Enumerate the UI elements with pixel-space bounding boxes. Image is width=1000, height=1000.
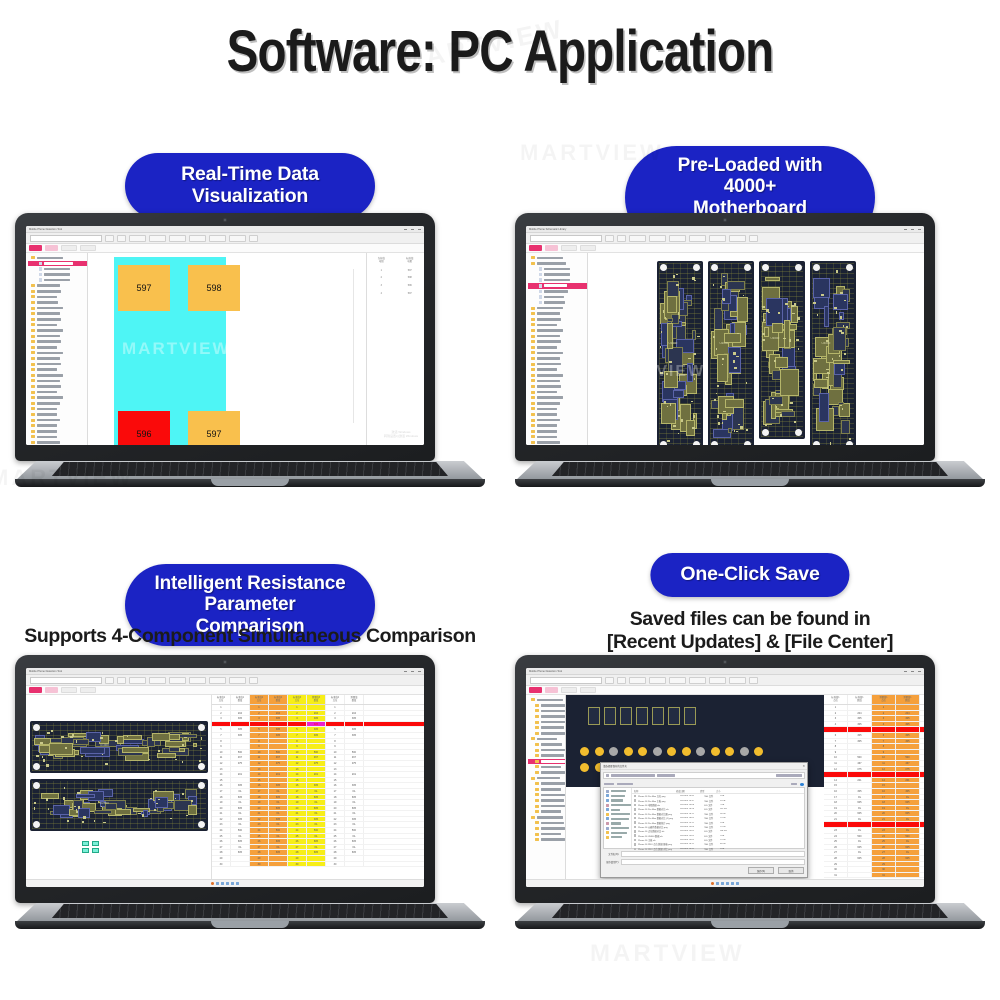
save-file-dialog[interactable]: 请选择要保存的文件夹 ✕ [600, 762, 808, 878]
table-cell: OL [269, 834, 288, 839]
table-cell: 20 [872, 811, 896, 816]
mounting-hole [198, 763, 205, 770]
table-cell: 305 [307, 722, 326, 727]
file-checkbox[interactable] [634, 795, 637, 798]
table-row[interactable]: 4597 [367, 290, 424, 298]
test-pad[interactable] [682, 747, 691, 756]
data-block-4[interactable]: 597 [188, 411, 240, 445]
folder-icon [31, 368, 35, 371]
tree-item-label [37, 335, 61, 338]
table-cell [269, 739, 288, 744]
test-pad[interactable] [624, 747, 633, 756]
table-cell: OL [848, 795, 872, 800]
file-cell: 2025/4/8 16:20 [680, 808, 704, 810]
table-cell: 467 [269, 755, 288, 760]
file-checkbox[interactable] [634, 808, 637, 811]
table-cell: 24 [872, 834, 896, 839]
status-icon[interactable] [231, 882, 234, 885]
table-cell: 2 [326, 711, 345, 716]
pcb-board[interactable]: U2000 [708, 261, 754, 445]
file-cell: PNG 文件 [704, 799, 720, 803]
table-cell: 24 [288, 828, 307, 833]
laptop-screen-4: Mobile Phone Detection Tool [526, 668, 924, 887]
mounting-hole [33, 724, 40, 731]
table-row[interactable]: 3596 [367, 282, 424, 290]
pcb-board[interactable]: U2800 [30, 779, 208, 831]
toolbar-button-reset[interactable] [617, 677, 626, 684]
window-controls[interactable] [404, 229, 421, 230]
table-cell: 31 [872, 873, 896, 878]
status-icon[interactable] [726, 882, 729, 885]
pcb-pad [840, 292, 843, 294]
file-checkbox[interactable] [634, 813, 637, 816]
pcb-pad [762, 339, 765, 341]
tab-data-compare[interactable] [29, 245, 42, 251]
file-checkbox[interactable] [634, 834, 637, 837]
folder-icon [535, 805, 539, 808]
pcb-component [169, 747, 179, 751]
table-cell: 305 [269, 783, 288, 788]
quadrant-intelligent-resistance-comparison: Intelligent Resistance Parameter Compari… [0, 540, 500, 990]
status-icon[interactable] [221, 882, 224, 885]
toolbar-button-auto-detect[interactable] [189, 677, 206, 684]
status-icon[interactable] [716, 882, 719, 885]
folder-icon [531, 435, 535, 438]
pcb-pad [765, 424, 767, 426]
table-cell: OL [345, 789, 364, 794]
status-icon[interactable] [216, 882, 219, 885]
file-cell: 17 KB [720, 839, 732, 841]
pcb-pad [103, 822, 106, 824]
document-icon [539, 290, 542, 294]
search-input[interactable] [530, 677, 602, 684]
toolbar-button-feedback[interactable] [729, 235, 746, 242]
table-cell: 13 [872, 772, 896, 777]
toolbar-button-download-update[interactable] [649, 235, 666, 242]
pcb-component [193, 743, 197, 747]
dialog-file-list[interactable]: 名称 修改日期 类型 大小 iPhone 16 Pro Max 点位.png20… [632, 788, 804, 848]
filename-input[interactable] [621, 851, 805, 857]
selected-component[interactable] [92, 848, 99, 853]
schematic-board-canvas[interactable]: U1000U2000U3000U4000 MARTVIEW [588, 253, 924, 445]
test-pad[interactable] [580, 747, 589, 756]
file-cell: 67 KB [720, 817, 732, 819]
table-cell: 605 [307, 850, 326, 855]
folder-icon [531, 335, 535, 338]
tree-item[interactable] [28, 440, 87, 445]
view-button[interactable] [791, 783, 797, 786]
toolbar-button-feedback[interactable] [229, 677, 246, 684]
mounting-hole [813, 264, 820, 271]
window-controls[interactable] [904, 671, 921, 672]
table-cell: OL [848, 839, 872, 844]
selected-component[interactable] [82, 841, 89, 846]
toolbar-button-point-query[interactable] [169, 677, 186, 684]
tree-item-label [37, 357, 61, 360]
toolbar-button-reset[interactable] [117, 677, 126, 684]
mounting-hole [762, 429, 769, 436]
pcb-component [737, 297, 748, 322]
pcb-board[interactable]: U4000 [810, 261, 856, 445]
toolbar-button-query[interactable] [605, 235, 614, 242]
toolbar-button-auto-detect[interactable] [189, 235, 206, 242]
pcb-pad [150, 798, 152, 800]
table-cell: 14 [326, 772, 345, 777]
file-checkbox[interactable] [634, 817, 637, 820]
pcb-pad [46, 798, 48, 801]
pcb-pad [92, 739, 94, 741]
table-cell [307, 705, 326, 710]
status-icon[interactable] [226, 882, 229, 885]
table-cell [345, 862, 364, 867]
status-icon[interactable] [731, 882, 734, 885]
test-pad[interactable] [580, 763, 589, 772]
toolbar-button-repair-data[interactable] [209, 235, 226, 242]
tab-component-library[interactable] [545, 687, 558, 693]
tree-item-label [537, 340, 562, 343]
toolbar-button-download-update[interactable] [649, 677, 666, 684]
table-cell [307, 767, 326, 772]
pcb-board[interactable]: U3000 [759, 261, 805, 439]
pcb-pad [836, 270, 837, 273]
toolbar-button-point-query[interactable] [169, 235, 186, 242]
table-cell: 22 [824, 822, 848, 827]
tab-components[interactable] [561, 687, 577, 693]
file-checkbox[interactable] [634, 839, 637, 842]
help-icon[interactable] [800, 783, 804, 786]
folder-icon [31, 329, 35, 332]
tab-resistance-data[interactable] [545, 245, 558, 251]
table-row[interactable]: 30303030 [212, 862, 424, 868]
tab-version[interactable] [80, 687, 96, 693]
tree-item-label [37, 368, 58, 371]
folder-icon [606, 794, 609, 797]
table-cell: 23 [872, 828, 896, 833]
toolbar-button-feedback[interactable] [729, 677, 746, 684]
test-pad[interactable] [638, 747, 647, 756]
toolbar-button-repair-data[interactable] [709, 677, 726, 684]
dialog-nav-pane[interactable] [604, 788, 632, 848]
table-cell: 3 [824, 716, 848, 721]
table-row[interactable]: 1597 [367, 266, 424, 274]
test-pad[interactable] [711, 747, 720, 756]
toolbar-button-about[interactable] [749, 235, 758, 242]
folder-icon [31, 290, 35, 293]
toolbar-button-about[interactable] [249, 235, 258, 242]
table-cell: 4 [288, 722, 307, 727]
data-block-2[interactable]: 598 [188, 265, 240, 311]
mounting-hole [693, 264, 700, 271]
toolbar-button-feedback[interactable] [229, 235, 246, 242]
file-cell: iPhone 16 Pro Max 点位.png [638, 794, 680, 798]
data-visualization-canvas[interactable]: 597 598 596 597 [88, 253, 366, 445]
toolbar-button-point-query[interactable] [669, 235, 686, 242]
pcb-pad [762, 306, 765, 308]
table-cell: 15 [872, 783, 896, 788]
pcb-board[interactable]: U1000 [30, 721, 208, 773]
pcb-pad [821, 294, 823, 297]
toolbar-button-custom[interactable] [629, 677, 646, 684]
pcb-pad [841, 332, 844, 335]
folder-icon [531, 441, 535, 444]
tree-item-label [541, 760, 566, 763]
toolbar-button-repair-data[interactable] [709, 235, 726, 242]
table-cell: 20 [250, 806, 269, 811]
toolbar-button-repair-data[interactable] [209, 677, 226, 684]
table-cell: 22 [872, 822, 896, 827]
nav-item-label [611, 818, 629, 820]
nav-item-label [611, 832, 627, 834]
toolbar-button-query[interactable] [105, 235, 114, 242]
pcb-pad [673, 425, 676, 427]
table-cell: 204 [307, 711, 326, 716]
table-cell: OL [896, 839, 920, 844]
file-checkbox[interactable] [634, 804, 637, 807]
folder-icon [531, 374, 535, 377]
folder-icon [531, 737, 535, 740]
tab-data-compare[interactable] [29, 687, 42, 693]
model-tree-sidebar[interactable] [526, 695, 566, 887]
table-cell: OL [848, 806, 872, 811]
table-cell: OL [269, 845, 288, 850]
table-cell [848, 867, 872, 872]
pcb-pad [666, 373, 669, 374]
status-icon[interactable] [721, 882, 724, 885]
tree-item-label [541, 805, 566, 808]
table-cell: 2 [212, 711, 231, 716]
tree-item-label [37, 363, 62, 366]
pcb-pad [170, 818, 172, 819]
file-checkbox[interactable] [634, 821, 637, 824]
test-pad[interactable] [609, 747, 618, 756]
table-cell: 28 [872, 856, 896, 861]
document-icon [539, 267, 542, 271]
measurement-table-4[interactable]: 标准值1 点位标准值1 数值测量值1 点位测量值1 数值112204220433… [824, 695, 924, 887]
connector-slot [636, 707, 648, 725]
table-cell: OL [307, 845, 326, 850]
document-icon [539, 284, 542, 288]
toolbar-button-auto-detect[interactable] [689, 235, 706, 242]
pcb-pad [694, 353, 696, 355]
toolbar-button-download-update[interactable] [149, 677, 166, 684]
test-pad[interactable] [725, 747, 734, 756]
nav-item-label [611, 836, 623, 838]
pcb-pad [693, 415, 694, 418]
keyboard [552, 904, 948, 918]
organize-button[interactable] [604, 783, 614, 786]
selected-components-group[interactable] [82, 841, 104, 853]
table-header-row: 标准值1 点位标准值1 数值测量值1 点位测量值1 数值 [824, 695, 924, 705]
table-cell: 14 [872, 778, 896, 783]
tab-component-library[interactable] [45, 687, 58, 693]
table-cell: 19 [824, 806, 848, 811]
table-cell: OL [848, 850, 872, 855]
dialog-buttons: 保存(S) 取消 [604, 867, 804, 874]
toolbar-button-custom[interactable] [129, 235, 146, 242]
pcb-pad [716, 348, 717, 350]
new-folder-button[interactable] [617, 783, 633, 786]
toolbar-button-custom[interactable] [629, 235, 646, 242]
tree-item-label [37, 402, 61, 405]
table-cell: 305 [269, 722, 288, 727]
table-cell [269, 744, 288, 749]
board-compare-canvas[interactable]: MARTVIEW U1000U2800 [26, 695, 212, 887]
mounting-hole [660, 264, 667, 271]
document-icon [539, 278, 542, 282]
toolbar-button-reset[interactable] [117, 235, 126, 242]
pcb-pad [36, 755, 39, 756]
file-checkbox[interactable] [634, 799, 637, 802]
toolbar-button-query[interactable] [605, 677, 614, 684]
table-row[interactable]: 3131 [824, 873, 924, 879]
toolbar-button-reset[interactable] [617, 235, 626, 242]
test-pad[interactable] [667, 747, 676, 756]
toolbar-button-auto-detect[interactable] [689, 677, 706, 684]
test-pad[interactable] [754, 747, 763, 756]
tab-version[interactable] [580, 245, 596, 251]
tree-item-label [37, 290, 62, 293]
folder-icon [31, 402, 35, 405]
tab-version[interactable] [580, 687, 596, 693]
tab-resistance-data[interactable] [45, 245, 58, 251]
tree-item-label [537, 441, 561, 444]
data-block-3[interactable]: 596 [118, 411, 170, 445]
path-breadcrumb[interactable] [603, 772, 805, 779]
folder-icon [31, 435, 35, 438]
table-cell: 075 [307, 761, 326, 766]
table-cell: 26 [212, 839, 231, 844]
search-input[interactable] [30, 677, 102, 684]
table-cell: 24 [212, 828, 231, 833]
nav-item[interactable] [606, 835, 631, 840]
pcb-pad [813, 302, 815, 303]
model-tree-sidebar[interactable] [26, 253, 88, 445]
table-row[interactable]: 2598 [367, 274, 424, 282]
window-controls[interactable] [904, 229, 921, 230]
laptop-base-4 [515, 903, 985, 929]
toolbar-button-about[interactable] [249, 677, 258, 684]
tree-item-label [537, 380, 561, 383]
pcb-pad [200, 748, 202, 749]
cancel-button[interactable]: 取消 [778, 867, 804, 874]
pcb-pad [81, 756, 82, 757]
mounting-hole [33, 821, 40, 828]
file-checkbox[interactable] [634, 843, 637, 846]
tab-components[interactable] [61, 245, 77, 251]
test-pad[interactable] [696, 747, 705, 756]
table-cell: 11 [250, 755, 269, 760]
search-input[interactable] [530, 235, 602, 242]
test-pad[interactable] [595, 747, 604, 756]
table-cell: OL [345, 800, 364, 805]
table-cell [896, 783, 920, 788]
quadrant-one-click-save: One-Click Save Saved files can be found … [500, 540, 1000, 990]
window-controls[interactable] [404, 671, 421, 672]
file-checkbox[interactable] [634, 848, 637, 851]
search-input[interactable] [30, 235, 102, 242]
table-cell: 12 [824, 767, 848, 772]
data-block-1[interactable]: 597 [118, 265, 170, 311]
tab-components[interactable] [61, 687, 77, 693]
tree-item-label [537, 324, 558, 327]
window-titlebar: Mobile Phone Schematic Library [526, 226, 924, 233]
toolbar-button-point-query[interactable] [669, 677, 686, 684]
pcb-board[interactable]: U1000 [657, 261, 703, 445]
table-cell: OL [896, 850, 920, 855]
table-cell: 467 [896, 761, 920, 766]
folder-icon [31, 340, 35, 343]
table-cell: 10 [326, 750, 345, 755]
tree-item[interactable] [528, 440, 587, 445]
test-pad[interactable] [653, 747, 662, 756]
toolbar-button-custom[interactable] [129, 677, 146, 684]
schematic-tree-sidebar[interactable] [526, 253, 588, 445]
toolbar-button-download-update[interactable] [149, 235, 166, 242]
save-button[interactable]: 保存(S) [748, 867, 774, 874]
pcb-pad [766, 309, 768, 311]
selected-component[interactable] [92, 841, 99, 846]
connector-slot [604, 707, 616, 725]
pcb-pad [76, 809, 77, 811]
tab-data-compare[interactable] [529, 687, 542, 693]
table-cell: 9 [872, 750, 896, 755]
table-cell: 605 [345, 850, 364, 855]
toolbar-button-about[interactable] [749, 677, 758, 684]
toolbar-button-query[interactable] [105, 677, 114, 684]
table-cell: 2 [824, 711, 848, 716]
table-cell: 305 [896, 716, 920, 721]
resistance-comparison-table[interactable]: 标准值1 点位标准值1 数值标准值2 点位标准值2 数值标准值3 点位测量值3 … [212, 695, 424, 887]
folder-icon [535, 788, 539, 791]
folder-icon [31, 419, 35, 422]
status-icon[interactable] [736, 882, 739, 885]
table-cell: 16 [824, 789, 848, 794]
table-cell: 305 [345, 716, 364, 721]
folder-icon [535, 799, 539, 802]
table-cell [896, 705, 920, 710]
table-cell: 201 [307, 772, 326, 777]
table-cell: 2 [288, 711, 307, 716]
folder-icon [531, 368, 535, 371]
selected-component[interactable] [82, 848, 89, 853]
table-cell: 24 [824, 834, 848, 839]
file-cell: PNG 文件 [704, 794, 720, 798]
test-pad[interactable] [740, 747, 749, 756]
status-icon[interactable] [236, 882, 239, 885]
laptop-screen-3: Mobile Phone Detection Tool [26, 668, 424, 887]
file-checkbox[interactable] [634, 830, 637, 833]
table-cell: 500 [231, 750, 250, 755]
pcb-pad [842, 408, 844, 410]
tab-data-compare[interactable] [529, 245, 542, 251]
pcb-pad [834, 307, 837, 309]
column-header: 测量值 数值 [345, 695, 364, 704]
file-checkbox[interactable] [634, 826, 637, 829]
table-cell: 605 [345, 806, 364, 811]
tree-item-label [541, 799, 565, 802]
table-cell: 605 [307, 806, 326, 811]
file-cell: XLS 文件 [704, 807, 720, 811]
filetype-select[interactable] [621, 859, 805, 865]
tree-item[interactable] [528, 837, 565, 843]
folder-icon [535, 771, 539, 774]
table-cell: 201 [345, 772, 364, 777]
tab-components[interactable] [561, 245, 577, 251]
tab-version[interactable] [80, 245, 96, 251]
file-cell: XLS 文件 [704, 803, 720, 807]
close-icon[interactable]: ✕ [802, 764, 805, 768]
table-cell: 13 [326, 767, 345, 772]
